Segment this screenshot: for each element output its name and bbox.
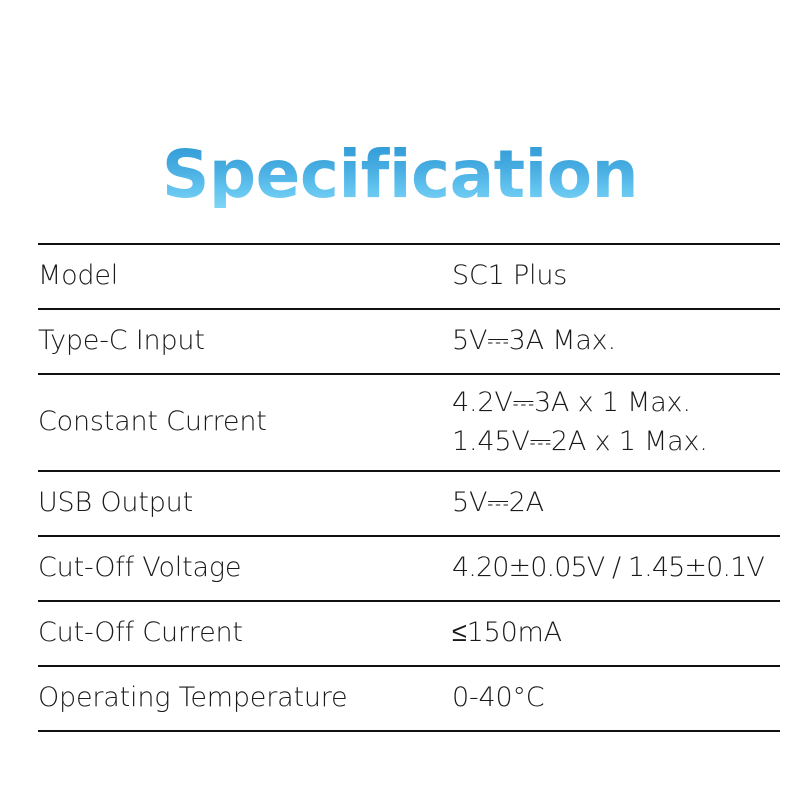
spec-value-line: 4.2V⎓3A x 1 Max.	[452, 386, 780, 421]
specification-table-body: Model SC1 Plus Type-C Input 5V⎓3A Max. C…	[38, 244, 780, 731]
spec-label-model: Model	[38, 244, 452, 309]
table-row: Model SC1 Plus	[38, 244, 780, 309]
spec-value-constant-current: 4.2V⎓3A x 1 Max. 1.45V⎓2A x 1 Max.	[452, 374, 780, 471]
spec-value-cut-off-current: ≤150mA	[452, 601, 780, 666]
spec-value-line: ≤150mA	[452, 616, 780, 651]
spec-value-line: 5V⎓3A Max.	[452, 324, 780, 359]
spec-value-line: 4.20±0.05V / 1.45±0.1V	[452, 551, 780, 586]
spec-value-line: 0-40°C	[452, 681, 780, 716]
page-title: Specification	[162, 142, 638, 208]
table-row: Operating Temperature 0-40°C	[38, 666, 780, 731]
table-row: Cut-Off Current ≤150mA	[38, 601, 780, 666]
page-title-container: Specification	[0, 142, 800, 208]
specification-table: Model SC1 Plus Type-C Input 5V⎓3A Max. C…	[38, 243, 780, 732]
spec-label-usb-output: USB Output	[38, 471, 452, 536]
spec-value-cut-off-voltage: 4.20±0.05V / 1.45±0.1V	[452, 536, 780, 601]
spec-value-operating-temperature: 0-40°C	[452, 666, 780, 731]
spec-value-line: 5V⎓2A	[452, 486, 780, 521]
spec-value-usb-output: 5V⎓2A	[452, 471, 780, 536]
table-row: Constant Current 4.2V⎓3A x 1 Max. 1.45V⎓…	[38, 374, 780, 471]
specification-page: Specification Model SC1 Plus Type-C Inpu…	[0, 0, 800, 800]
table-row: Type-C Input 5V⎓3A Max.	[38, 309, 780, 374]
spec-value-type-c-input: 5V⎓3A Max.	[452, 309, 780, 374]
table-row: Cut-Off Voltage 4.20±0.05V / 1.45±0.1V	[38, 536, 780, 601]
spec-label-cut-off-current: Cut-Off Current	[38, 601, 452, 666]
spec-label-constant-current: Constant Current	[38, 374, 452, 471]
spec-label-operating-temperature: Operating Temperature	[38, 666, 452, 731]
spec-value-line: SC1 Plus	[452, 259, 780, 294]
spec-value-model: SC1 Plus	[452, 244, 780, 309]
spec-value-line: 1.45V⎓2A x 1 Max.	[452, 425, 780, 460]
spec-label-type-c-input: Type-C Input	[38, 309, 452, 374]
spec-label-cut-off-voltage: Cut-Off Voltage	[38, 536, 452, 601]
table-row: USB Output 5V⎓2A	[38, 471, 780, 536]
